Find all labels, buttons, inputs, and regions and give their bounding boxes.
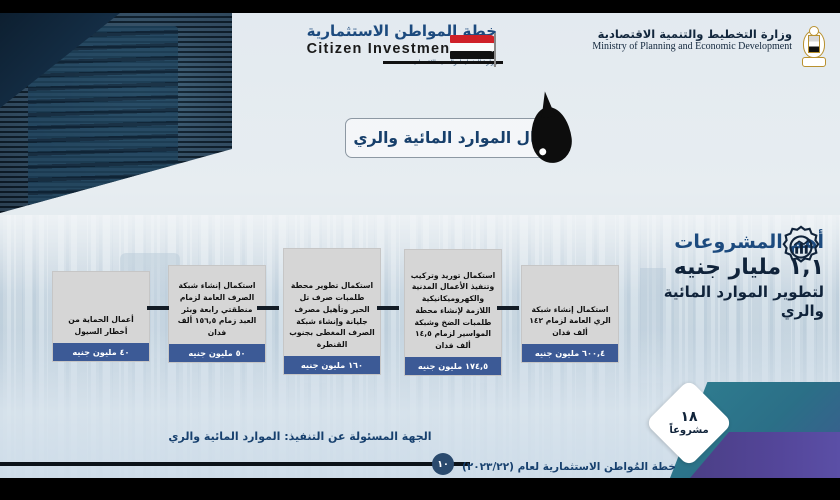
slide: خطة المواطن الاستثمارية Citizen Investme… (0, 0, 840, 500)
responsible-entity: الجهة المسئولة عن التنفيذ: الموارد المائ… (0, 430, 600, 443)
project-card-value: ١٧٤,٥ مليون جنيه (405, 357, 501, 375)
card-connector (377, 306, 399, 310)
page-number-badge: ١٠ (432, 453, 454, 475)
project-card-value: ٤٠ مليون جنيه (53, 343, 149, 361)
project-card[interactable]: أعمال الحماية من أخطار السيول ٤٠ مليون ج… (52, 271, 150, 362)
project-card[interactable]: استكمال تطوير محطة طلمبات صرف تل الحير و… (283, 248, 381, 375)
project-card-title: استكمال إنشاء شبكة الصرف العامة لزمام من… (169, 273, 265, 344)
card-connector (497, 306, 519, 310)
summary-purpose: لتطوير الموارد المائية والري (618, 283, 824, 321)
card-connector (147, 306, 169, 310)
project-card[interactable]: استكمال توريد وتركيب وتنفيذ الأعمال المد… (404, 249, 502, 376)
gear-chart-icon (778, 224, 824, 270)
footer-plan-year: خطة المُواطن الاستثمارية لعام (٢٠٢٣/٢٢) (462, 461, 792, 473)
project-card-value: ١٦٠ مليون جنيه (284, 356, 380, 374)
project-card[interactable]: استكمال إنشاء شبكة الصرف العامة لزمام من… (168, 265, 266, 363)
project-card-title: أعمال الحماية من أخطار السيول (53, 307, 149, 343)
summary-panel: أهم المشروعات ١,١ مليار جنيه لتطوير المو… (618, 232, 824, 321)
sector-title-text: مجال الموارد المائية والري (353, 129, 556, 147)
footer-rule (0, 462, 470, 466)
project-card-title: استكمال إنشاء شبكة الري العامة لزمام ١٤٢… (522, 297, 618, 344)
project-card-title: استكمال تطوير محطة طلمبات صرف تل الحير و… (284, 273, 380, 356)
project-card-title: استكمال توريد وتركيب وتنفيذ الأعمال المد… (405, 263, 501, 357)
project-card-value: ٥٠ مليون جنيه (169, 344, 265, 362)
card-connector (257, 306, 279, 310)
letterbox-top (0, 0, 840, 13)
letterbox-bottom (0, 478, 840, 500)
project-card[interactable]: استكمال إنشاء شبكة الري العامة لزمام ١٤٢… (521, 265, 619, 363)
project-card-value: ٦٠٠,٤ مليون جنيه (522, 344, 618, 362)
sector-title: مجال الموارد المائية والري (345, 118, 565, 158)
